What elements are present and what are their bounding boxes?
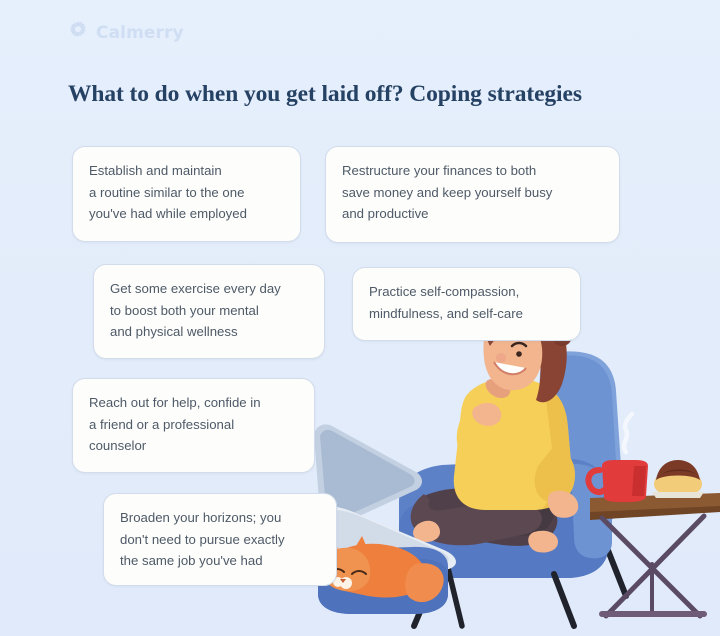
tip-line: and physical wellness [110, 321, 308, 343]
illustration-woman-with-laptop [296, 296, 720, 636]
tip-card-establish-routine: Establish and maintain a routine similar… [72, 146, 301, 242]
tip-line: Practice self-compassion, [369, 281, 564, 303]
tip-line: Establish and maintain [89, 160, 284, 182]
tip-line: counselor [89, 435, 298, 457]
brand-name: Calmerry [96, 23, 184, 43]
tip-line: to boost both your mental [110, 300, 308, 322]
tip-line: Get some exercise every day [110, 278, 308, 300]
gear-flower-icon [68, 20, 88, 45]
page-title: What to do when you get laid off? Coping… [68, 81, 668, 108]
tip-line: a routine similar to the one [89, 182, 284, 204]
infographic-root: Calmerry What to do when you get laid of… [0, 0, 720, 636]
tip-card-restructure-finances: Restructure your finances to both save m… [325, 146, 620, 243]
tip-line: Restructure your finances to both [342, 160, 603, 182]
tip-line: save money and keep yourself busy [342, 182, 603, 204]
tip-line: you've had while employed [89, 203, 284, 225]
tip-card-get-exercise: Get some exercise every day to boost bot… [93, 264, 325, 359]
tip-line: the same job you've had [120, 550, 320, 572]
tip-card-broaden-horizons: Broaden your horizons; you don't need to… [103, 493, 337, 586]
tip-card-reach-out-for-help: Reach out for help, confide in a friend … [72, 378, 315, 473]
tip-line: don't need to pursue exactly [120, 529, 320, 551]
tip-line: mindfulness, and self-care [369, 303, 564, 325]
tip-card-practice-self-compassion: Practice self-compassion, mindfulness, a… [352, 267, 581, 341]
tip-line: a friend or a professional [89, 414, 298, 436]
brand-logo: Calmerry [68, 20, 184, 45]
tip-line: Reach out for help, confide in [89, 392, 298, 414]
tip-line: Broaden your horizons; you [120, 507, 320, 529]
tip-line: and productive [342, 203, 603, 225]
